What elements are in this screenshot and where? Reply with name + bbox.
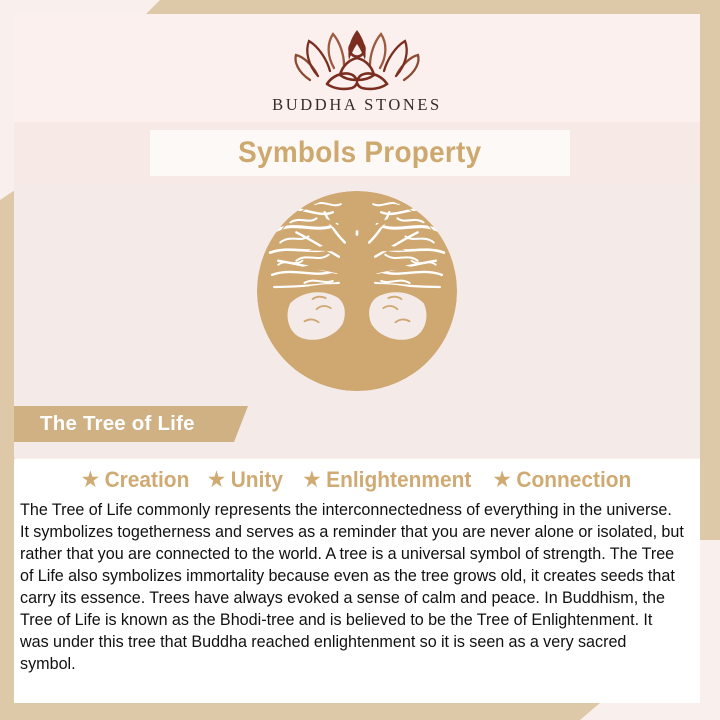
content-panel: ★ Creation ★ Unity ★ Enlightenment ★ Con… [14,459,700,703]
keyword-item: ★ Unity [208,467,283,493]
description-text: The Tree of Life commonly represents the… [20,499,684,676]
keyword-item: ★ Creation [82,467,190,493]
tree-of-life-icon [256,190,458,392]
lotus-meditation-icon [282,22,432,94]
symbol-label: The Tree of Life [40,412,195,436]
decorative-band-bottom [0,703,600,720]
title-zone: Symbols Property [14,122,700,184]
keyword-label: Creation [105,467,190,493]
star-icon: ★ [82,470,99,490]
keyword-label: Connection [516,467,631,493]
keyword-item: ★ Enlightenment [304,467,472,493]
title-band: Symbols Property [150,130,570,176]
decorative-band-left [0,190,15,720]
keyword-item: ★ Connection [494,467,632,493]
keyword-label: Unity [231,467,283,493]
keyword-label: Enlightenment [326,467,471,493]
star-icon: ★ [208,470,225,490]
star-icon: ★ [304,470,321,490]
page-title: Symbols Property [238,136,481,170]
keyword-list: ★ Creation ★ Unity ★ Enlightenment ★ Con… [14,459,700,493]
infographic-page: BUDDHA STONES Symbols Property [0,0,720,720]
star-icon: ★ [494,470,511,490]
brand-name: BUDDHA STONES [272,95,442,115]
symbol-label-tab: The Tree of Life [14,406,248,442]
decorative-band-right [700,0,720,540]
brand-logo: BUDDHA STONES [14,22,700,115]
header: BUDDHA STONES [14,14,700,122]
decorative-band-top [145,0,720,15]
